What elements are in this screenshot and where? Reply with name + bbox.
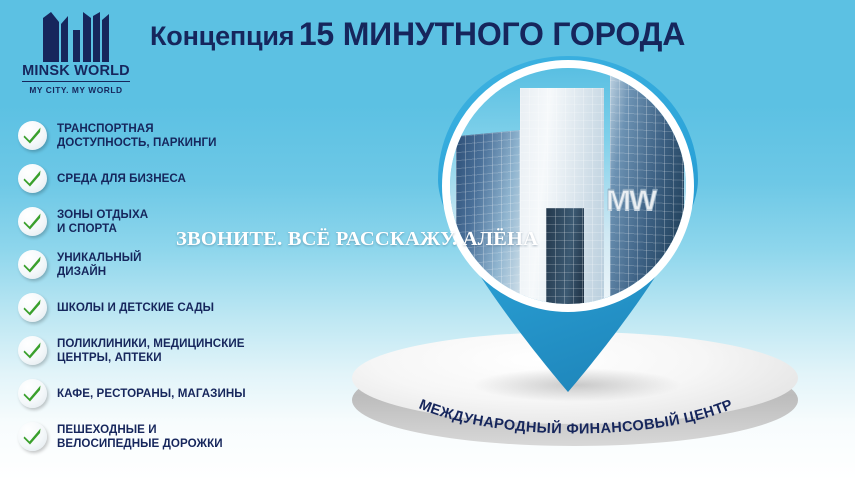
- title-lead: Концепция: [150, 21, 294, 51]
- page-title: Концепция 15 МИНУТНОГО ГОРОДА: [150, 18, 750, 50]
- building-photo: MW: [450, 68, 686, 304]
- list-item-label: УНИКАЛЬНЫЙ ДИЗАЙН: [57, 251, 142, 278]
- title-main: 15 МИНУТНОГО ГОРОДА: [299, 16, 685, 52]
- list-item: ПЕШЕХОДНЫЕ И ВЕЛОСИПЕДНЫЕ ДОРОЖКИ: [18, 415, 338, 458]
- building-monogram: MW: [606, 184, 655, 218]
- list-item: ТРАНСПОРТНАЯ ДОСТУПНОСТЬ, ПАРКИНГИ: [18, 114, 338, 157]
- check-icon: [18, 336, 47, 365]
- check-icon: [18, 379, 47, 408]
- list-item-label: ПЕШЕХОДНЫЕ И ВЕЛОСИПЕДНЫЕ ДОРОЖКИ: [57, 423, 223, 450]
- check-icon: [18, 164, 47, 193]
- map-pin-graphic: MW: [418, 52, 718, 392]
- check-icon: [18, 250, 47, 279]
- overlay-call-text: ЗВОНИТЕ. ВСЁ РАССКАЖУ. АЛЁНА: [176, 228, 538, 251]
- logo-name: MINSK WORLD: [22, 64, 130, 82]
- list-item-label: КАФЕ, РЕСТОРАНЫ, МАГАЗИНЫ: [57, 387, 246, 401]
- list-item: ШКОЛЫ И ДЕТСКИЕ САДЫ: [18, 286, 338, 329]
- list-item-label: ШКОЛЫ И ДЕТСКИЕ САДЫ: [57, 301, 214, 315]
- list-item-label: ЗОНЫ ОТДЫХА И СПОРТА: [57, 208, 148, 235]
- list-item-label: ПОЛИКЛИНИКИ, МЕДИЦИНСКИЕ ЦЕНТРЫ, АПТЕКИ: [57, 337, 245, 364]
- mw-monogram-icon: [14, 12, 138, 62]
- brand-logo: MINSK WORLD MY CITY. MY WORLD: [14, 12, 138, 95]
- list-item: ПОЛИКЛИНИКИ, МЕДИЦИНСКИЕ ЦЕНТРЫ, АПТЕКИ: [18, 329, 338, 372]
- poster-canvas: MINSK WORLD MY CITY. MY WORLD Концепция …: [0, 0, 855, 480]
- check-icon: [18, 422, 47, 451]
- list-item: СРЕДА ДЛЯ БИЗНЕСА: [18, 157, 338, 200]
- logo-tagline: MY CITY. MY WORLD: [14, 85, 138, 95]
- list-item: КАФЕ, РЕСТОРАНЫ, МАГАЗИНЫ: [18, 372, 338, 415]
- feature-list: ТРАНСПОРТНАЯ ДОСТУПНОСТЬ, ПАРКИНГИ СРЕДА…: [18, 114, 338, 458]
- tower-dark: [546, 208, 584, 304]
- check-icon: [18, 207, 47, 236]
- list-item-label: ТРАНСПОРТНАЯ ДОСТУПНОСТЬ, ПАРКИНГИ: [57, 122, 217, 149]
- platform-caption-text: МЕЖДУНАРОДНЫЙ ФИНАНСОВЫЙ ЦЕНТР: [417, 397, 736, 438]
- list-item-label: СРЕДА ДЛЯ БИЗНЕСА: [57, 172, 186, 186]
- check-icon: [18, 293, 47, 322]
- svg-text:МЕЖДУНАРОДНЫЙ ФИНАНСОВЫЙ ЦЕНТР: МЕЖДУНАРОДНЫЙ ФИНАНСОВЫЙ ЦЕНТР: [417, 397, 736, 438]
- check-icon: [18, 121, 47, 150]
